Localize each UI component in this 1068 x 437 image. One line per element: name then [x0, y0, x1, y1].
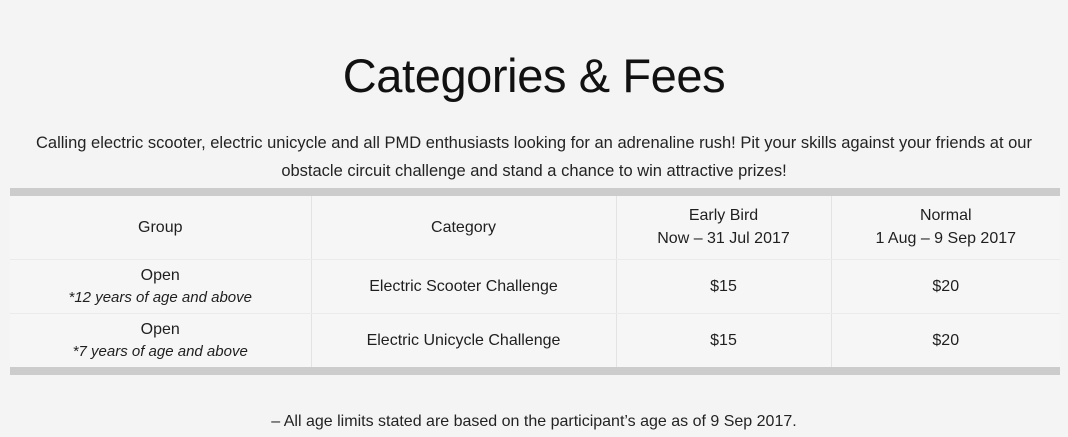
cell-normal-price-value: $20 — [932, 278, 959, 295]
table-bottom-rule — [10, 367, 1060, 375]
column-header-early-bird-dates: Now – 31 Jul 2017 — [617, 227, 831, 250]
cell-group: Open *7 years of age and above — [10, 314, 311, 368]
page-title: Categories & Fees — [0, 43, 1068, 109]
column-header-category: Category — [311, 196, 616, 260]
cell-early-bird-price-value: $15 — [710, 332, 737, 349]
column-header-early-bird: Early Bird Now – 31 Jul 2017 — [616, 196, 831, 260]
cell-normal-price: $20 — [831, 260, 1060, 314]
table-row: Open *7 years of age and above Electric … — [10, 314, 1060, 368]
cell-category: Electric Scooter Challenge — [311, 260, 616, 314]
fees-table-container: Group Category Early Bird Now – 31 Jul 2… — [10, 188, 1060, 375]
column-header-normal: Normal 1 Aug – 9 Sep 2017 — [831, 196, 1060, 260]
table-row: Open *12 years of age and above Electric… — [10, 260, 1060, 314]
table-header-row: Group Category Early Bird Now – 31 Jul 2… — [10, 196, 1060, 260]
column-header-category-label: Category — [431, 219, 496, 236]
column-header-group: Group — [10, 196, 311, 260]
column-header-normal-dates: 1 Aug – 9 Sep 2017 — [832, 227, 1061, 250]
intro-paragraph: Calling electric scooter, electric unicy… — [8, 129, 1060, 185]
footnote: – All age limits stated are based on the… — [0, 411, 1068, 433]
column-header-normal-label: Normal — [920, 207, 972, 224]
cell-category: Electric Unicycle Challenge — [311, 314, 616, 368]
cell-early-bird-price-value: $15 — [710, 278, 737, 295]
cell-early-bird-price: $15 — [616, 314, 831, 368]
cell-group-note: *12 years of age and above — [10, 287, 311, 308]
column-header-group-label: Group — [138, 219, 182, 236]
cell-category-value: Electric Unicycle Challenge — [367, 332, 561, 349]
cell-normal-price-value: $20 — [932, 332, 959, 349]
cell-group-value: Open — [141, 267, 180, 284]
cell-group: Open *12 years of age and above — [10, 260, 311, 314]
cell-early-bird-price: $15 — [616, 260, 831, 314]
table-top-rule — [10, 188, 1060, 196]
cell-normal-price: $20 — [831, 314, 1060, 368]
categories-fees-table: Group Category Early Bird Now – 31 Jul 2… — [10, 196, 1060, 367]
cell-category-value: Electric Scooter Challenge — [369, 278, 558, 295]
categories-and-fees-page: Categories & Fees Calling electric scoot… — [0, 0, 1068, 437]
cell-group-value: Open — [141, 321, 180, 338]
cell-group-note: *7 years of age and above — [10, 341, 311, 362]
column-header-early-bird-label: Early Bird — [689, 207, 758, 224]
